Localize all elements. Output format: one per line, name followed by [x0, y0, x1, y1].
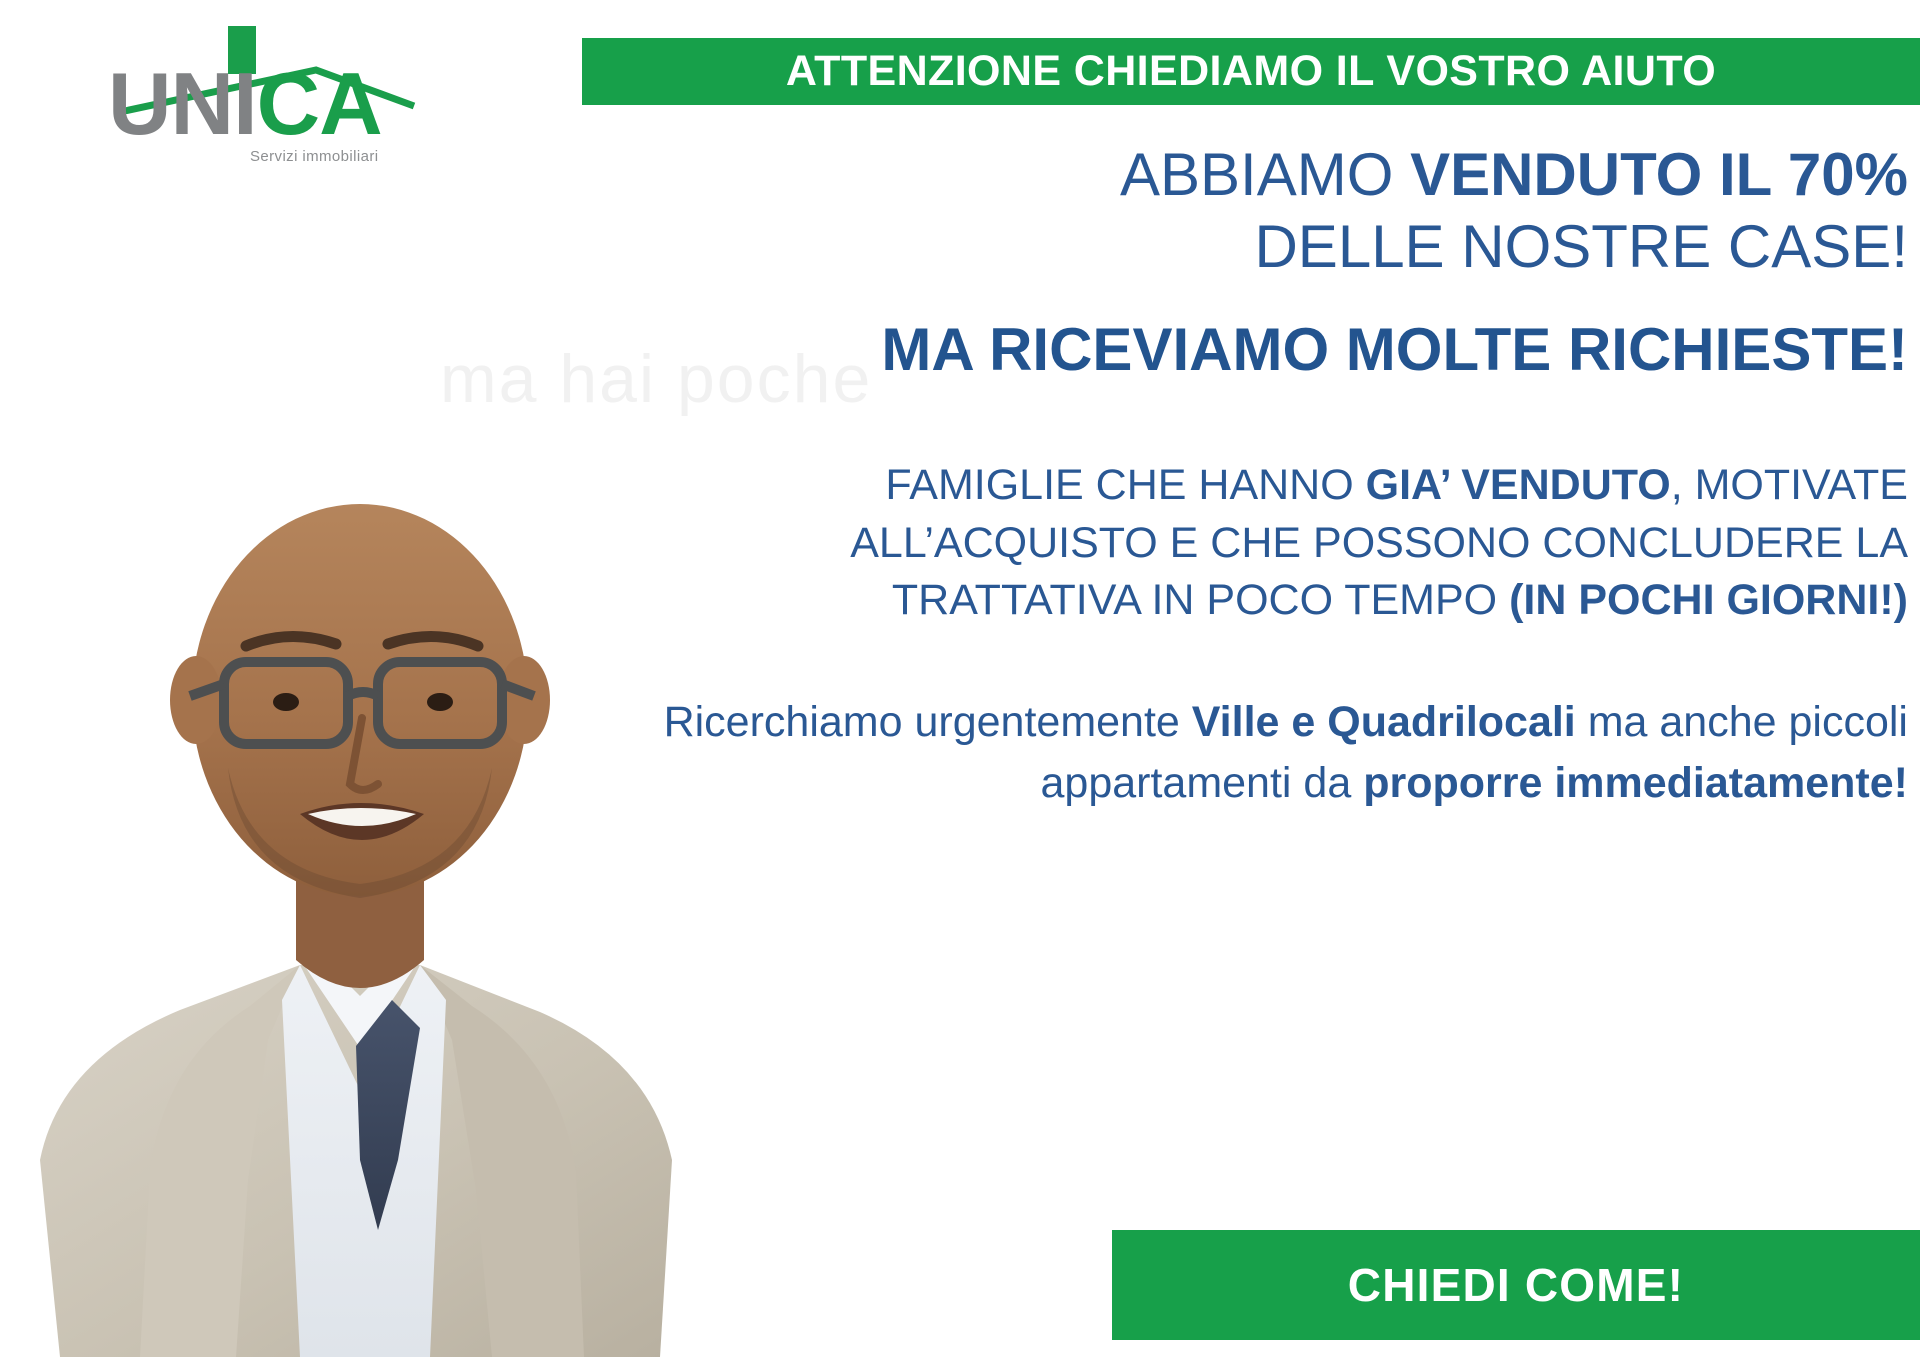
paragraph1-part1: FAMIGLIE CHE HANNO [885, 461, 1365, 509]
logo-uni-text: UNI [108, 54, 257, 153]
headline-emphasis: MA RICEVIAMO MOLTE RICHIESTE! [640, 317, 1908, 383]
paragraph2-part1: Ricerchiamo urgentemente [664, 698, 1192, 746]
chiedi-come-button-label: CHIEDI COME! [1348, 1258, 1684, 1312]
paragraph-search: Ricerchiamo urgentemente Ville e Quadril… [640, 692, 1908, 814]
paragraph-families: FAMIGLIE CHE HANNO GIA’ VENDUTO, MOTIVAT… [640, 457, 1908, 630]
attention-banner: ATTENZIONE CHIEDIAMO IL VOSTRO AIUTO [582, 38, 1920, 105]
paragraph2-bold1: Ville e Quadrilocali [1192, 698, 1576, 746]
paragraph2-bold2: proporre immediatamente! [1363, 759, 1908, 807]
headline-regular: ABBIAMO [1120, 141, 1410, 208]
paragraph1-bold1: GIA’ VENDUTO [1366, 461, 1671, 509]
paragraph1-bold2: (IN POCHI GIORNI!) [1509, 576, 1908, 624]
attention-banner-text: ATTENZIONE CHIEDIAMO IL VOSTRO AIUTO [786, 47, 1716, 96]
brand-logo: UNICA Servizi immobiliari [108, 14, 428, 144]
logo-wordmark: UNICA [108, 60, 382, 148]
chiedi-come-button[interactable]: CHIEDI COME! [1112, 1230, 1920, 1340]
logo-ca-text: CA [257, 54, 382, 153]
headline-bold: VENDUTO IL 70% [1410, 141, 1908, 208]
copy-block: ABBIAMO VENDUTO IL 70% DELLE NOSTRE CASE… [640, 140, 1920, 814]
headline-line-2: DELLE NOSTRE CASE! [640, 212, 1908, 282]
logo-tagline: Servizi immobiliari [250, 148, 378, 165]
headline-line-1: ABBIAMO VENDUTO IL 70% [640, 140, 1908, 210]
